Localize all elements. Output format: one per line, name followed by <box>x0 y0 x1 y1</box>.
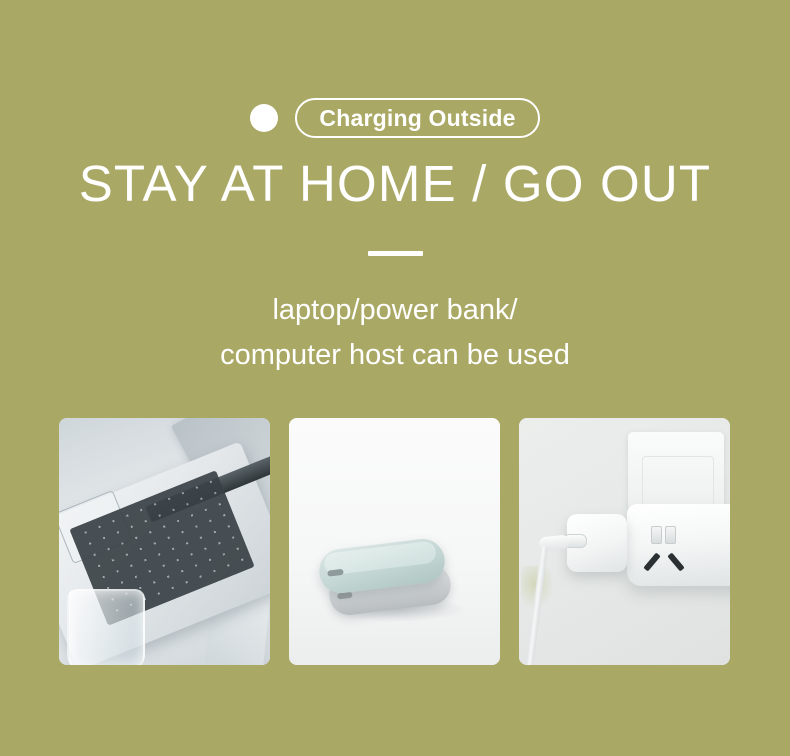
laptop-photo-card <box>59 418 270 665</box>
subtitle-line-2: computer host can be used <box>0 333 790 378</box>
wall-charger-photo <box>519 418 730 665</box>
charging-outside-badge: Charging Outside <box>295 98 539 138</box>
glass-tumbler <box>67 589 145 665</box>
power-bank-photo-card <box>289 418 500 665</box>
usb-port-icon <box>651 526 662 544</box>
promo-banner: Charging Outside STAY AT HOME / GO OUT l… <box>0 0 790 756</box>
page-title: STAY AT HOME / GO OUT <box>0 152 790 216</box>
title-divider <box>368 251 423 256</box>
wall-plate <box>628 432 724 510</box>
laptop-photo <box>59 418 270 665</box>
subtitle-block: laptop/power bank/ computer host can be … <box>0 288 790 378</box>
socket-slot-icon <box>667 552 684 571</box>
filled-circle-icon <box>250 104 278 132</box>
photo-card-row <box>59 418 728 665</box>
usb-port-icon <box>665 526 676 544</box>
wall-charger-photo-card <box>519 418 730 665</box>
socket-slot-icon <box>643 552 660 571</box>
subtitle-line-1: laptop/power bank/ <box>0 288 790 333</box>
badge-label: Charging Outside <box>319 107 515 130</box>
power-strip <box>627 504 730 586</box>
usb-port-icon <box>327 569 344 577</box>
badge-row: Charging Outside <box>0 98 790 138</box>
wall-charger-body <box>567 514 627 572</box>
power-bank-photo <box>289 418 500 665</box>
